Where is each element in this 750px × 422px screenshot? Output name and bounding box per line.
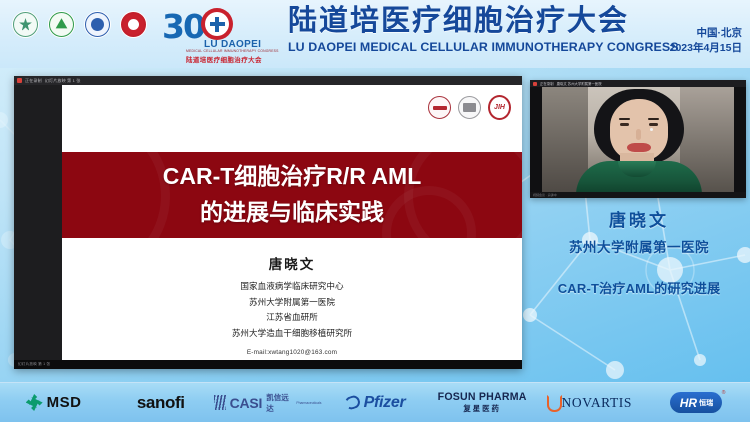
sponsor-label: HR [680, 397, 697, 409]
sponsor-label: NOVARTIS [562, 395, 633, 411]
sponsor-label: MSD [47, 394, 82, 411]
slide-window[interactable]: 正在录制 幻灯片放映 第 1 张 JIH CAR-T细胞治疗R/R AML 的进… [14, 76, 522, 369]
org-logo-4-icon [120, 11, 147, 38]
slide-window-titlebar: 正在录制 幻灯片放映 第 1 张 [14, 76, 522, 85]
mouse-cursor-icon [650, 128, 653, 131]
page-title-english: LU DAOPEI MEDICAL CELLULAR IMMUNOTHERAPY… [288, 40, 679, 54]
sponsor-label-cn: 凯信远达 [266, 392, 292, 414]
sponsor-casi[interactable]: CASI 凯信远达 Pharmaceuticals [214, 392, 321, 414]
slide-presenter-name: 唐晓文 [62, 253, 522, 273]
recording-indicator-icon [17, 78, 22, 83]
speaker-info: 唐晓文 苏州大学附属第一医院 CAR-T治疗AML的研究进展 [528, 206, 750, 297]
jih-icon: JIH [488, 96, 511, 119]
slide-affiliation: 苏州大学造血干细胞移植研究所 [62, 326, 522, 342]
slide-title-band: CAR-T细胞治疗R/R AML 的进展与临床实践 [62, 152, 522, 238]
sponsor-label: FOSUN PHARMA [438, 391, 527, 403]
slide-statusbar-label: 幻灯片放映 第 1 张 [18, 362, 50, 367]
organization-logos [12, 11, 147, 38]
sponsor-hengrui[interactable]: HR 恒瑞 ® [643, 392, 750, 413]
sponsor-pfizer[interactable]: Pfizer [321, 394, 428, 412]
hengrui-logo-icon: HR 恒瑞 ® [670, 392, 722, 413]
slide-affiliation: 国家血液病学临床研究中心 [62, 279, 522, 295]
sponsor-label-cn: 恒瑞 [699, 398, 713, 408]
slide-window-statusbar: 幻灯片放映 第 1 张 [14, 360, 522, 369]
slide-affiliation: 江苏省血研所 [62, 310, 522, 326]
sponsor-msd[interactable]: MSD [0, 394, 107, 411]
video-participant-label: 唐晓文 苏州大学附属第一医院 [557, 81, 602, 86]
sponsor-label: sanofi [137, 393, 185, 413]
video-scene [542, 87, 734, 192]
slide-logos: JIH [428, 96, 511, 119]
sponsor-fosun[interactable]: FOSUN PHARMA 复星医药 [429, 391, 536, 414]
video-recording-indicator-icon [533, 82, 537, 86]
speaker-video-panel[interactable]: 正在录制 唐晓文 苏州大学附属第一医院 视频会议 · 演讲中 [530, 80, 746, 198]
page-title: 陆道培医疗细胞治疗大会 [288, 5, 629, 38]
congress-broadcast-screen: 30 LU DAOPEI MEDICAL CELLULAR IMMUNOTHER… [0, 0, 750, 422]
sponsor-sanofi[interactable]: sanofi [107, 393, 214, 413]
slide-title: CAR-T细胞治疗R/R AML 的进展与临床实践 [62, 152, 522, 230]
page-header: 30 LU DAOPEI MEDICAL CELLULAR IMMUNOTHER… [0, 0, 750, 68]
sponsor-label-cn: 复星医药 [463, 403, 501, 414]
sponsor-novartis[interactable]: NOVARTIS [536, 395, 643, 411]
slide-body: 唐晓文 国家血液病学临床研究中心 苏州大学附属第一医院 江苏省血研所 苏州大学造… [62, 238, 522, 356]
slide-affiliations: 国家血液病学临床研究中心 苏州大学附属第一医院 江苏省血研所 苏州大学造血干细胞… [62, 279, 522, 341]
casi-wave-icon [214, 395, 225, 410]
org-logo-2-icon [48, 11, 75, 38]
sponsor-label: Pfizer [364, 394, 406, 412]
congress-logo: 30 LU DAOPEI MEDICAL CELLULAR IMMUNOTHER… [160, 6, 278, 62]
event-location: 中国·北京 [670, 26, 742, 41]
sponsor-label: CASI [230, 395, 263, 411]
anniversary-number: 30 [162, 10, 204, 43]
jih-label: JIH [494, 104, 505, 111]
video-statusbar: 视频会议 · 演讲中 [530, 192, 746, 198]
slide-title-line1: CAR-T细胞治疗R/R AML [62, 158, 522, 194]
pfizer-logo-icon [345, 396, 360, 409]
slide-affiliation: 苏州大学附属第一医院 [62, 295, 522, 311]
sponsor-bar: MSD sanofi CASI 凯信远达 Pharmaceuticals Pfi… [0, 382, 750, 422]
video-titlebar: 正在录制 唐晓文 苏州大学附属第一医院 [530, 80, 746, 87]
seal-gray-icon [458, 96, 481, 119]
congress-brand-name-cn: 陆道培医疗细胞治疗大会 [186, 54, 262, 64]
medical-cross-icon [201, 8, 233, 40]
speaker-topic: CAR-T治疗AML的研究进展 [528, 278, 750, 297]
seal-red-icon [428, 96, 451, 119]
sponsor-sublabel: Pharmaceuticals [296, 401, 321, 405]
video-recording-label: 正在录制 [540, 81, 554, 86]
registered-mark: ® [722, 390, 726, 396]
msd-logo-icon [26, 394, 43, 411]
presentation-slide: JIH CAR-T细胞治疗R/R AML 的进展与临床实践 唐晓文 国家血液病学… [62, 85, 522, 360]
speaker-affiliation: 苏州大学附属第一医院 [528, 236, 750, 256]
recording-label: 正在录制 [25, 78, 42, 84]
video-footer-label: 视频会议 · 演讲中 [533, 193, 557, 197]
congress-brand-subtitle: MEDICAL CELLULAR IMMUNOTHERAPY CONGRESS [186, 49, 279, 53]
slide-title-line2: 的进展与临床实践 [62, 194, 522, 230]
speaker-name: 唐晓文 [528, 206, 750, 231]
event-date: 2023年4月15日 [670, 41, 742, 56]
org-logo-1-icon [12, 11, 39, 38]
slide-email: E-mail:xwtang1020@163.com [62, 349, 522, 356]
slide-status-label: 幻灯片放映 第 1 张 [45, 78, 81, 84]
event-meta: 中国·北京 2023年4月15日 [670, 26, 742, 56]
novartis-logo-icon [547, 395, 558, 410]
speaker-face [610, 99, 668, 161]
org-logo-3-icon [84, 11, 111, 38]
